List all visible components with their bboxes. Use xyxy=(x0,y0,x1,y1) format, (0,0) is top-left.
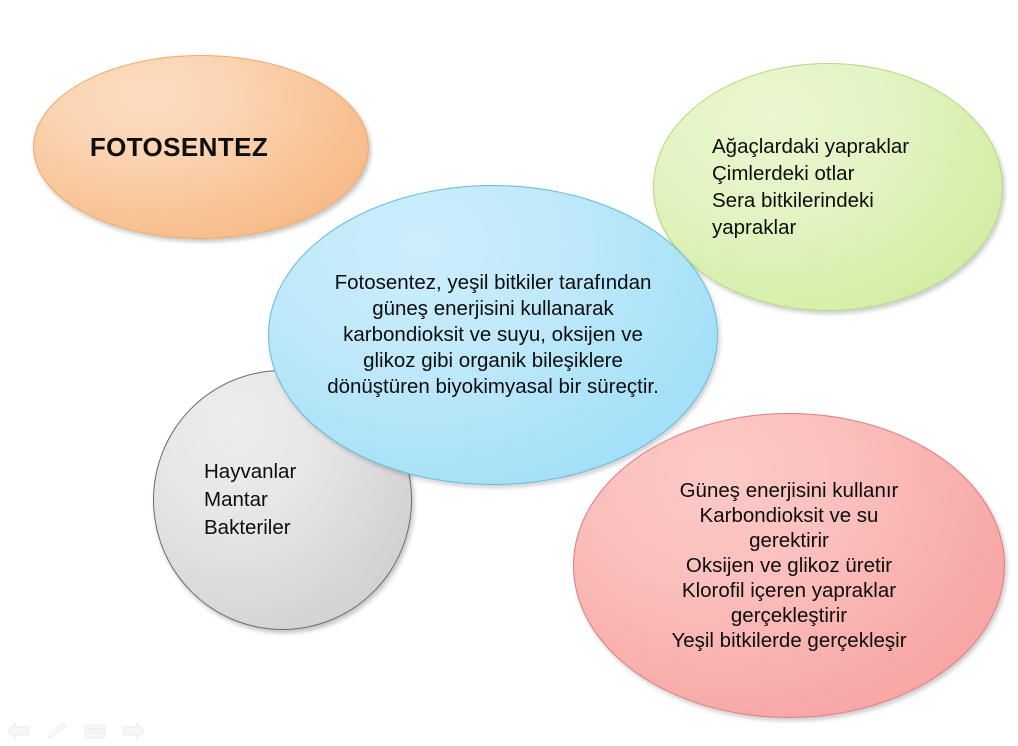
non-photosynthetic-ellipse-text: Hayvanlar Mantar Bakteriler xyxy=(154,458,411,543)
properties-ellipse-ozellikler[interactable]: Güneş enerjisini kullanır Karbondioksit … xyxy=(573,413,1005,718)
title-ellipse-text: FOTOSENTEZ xyxy=(34,132,368,163)
definition-ellipse-tanim[interactable]: Fotosentez, yeşil bitkiler tarafından gü… xyxy=(268,185,718,485)
menu-icon[interactable] xyxy=(82,720,108,742)
pen-icon[interactable] xyxy=(44,720,70,742)
properties-ellipse-text: Güneş enerjisini kullanır Karbondioksit … xyxy=(574,478,1004,653)
slide-canvas: FOTOSENTEZ Ağaçlardaki yapraklar Çimlerd… xyxy=(0,0,1018,746)
left-arrow-icon[interactable] xyxy=(6,720,32,742)
definition-ellipse-text: Fotosentez, yeşil bitkiler tarafından gü… xyxy=(269,270,717,399)
slideshow-navigation-toolbar xyxy=(6,720,146,742)
right-arrow-icon[interactable] xyxy=(120,720,146,742)
examples-ellipse-text: Ağaçlardaki yapraklar Çimlerdeki otlar S… xyxy=(654,133,1002,241)
title-ellipse-fotosentez[interactable]: FOTOSENTEZ xyxy=(33,55,369,239)
